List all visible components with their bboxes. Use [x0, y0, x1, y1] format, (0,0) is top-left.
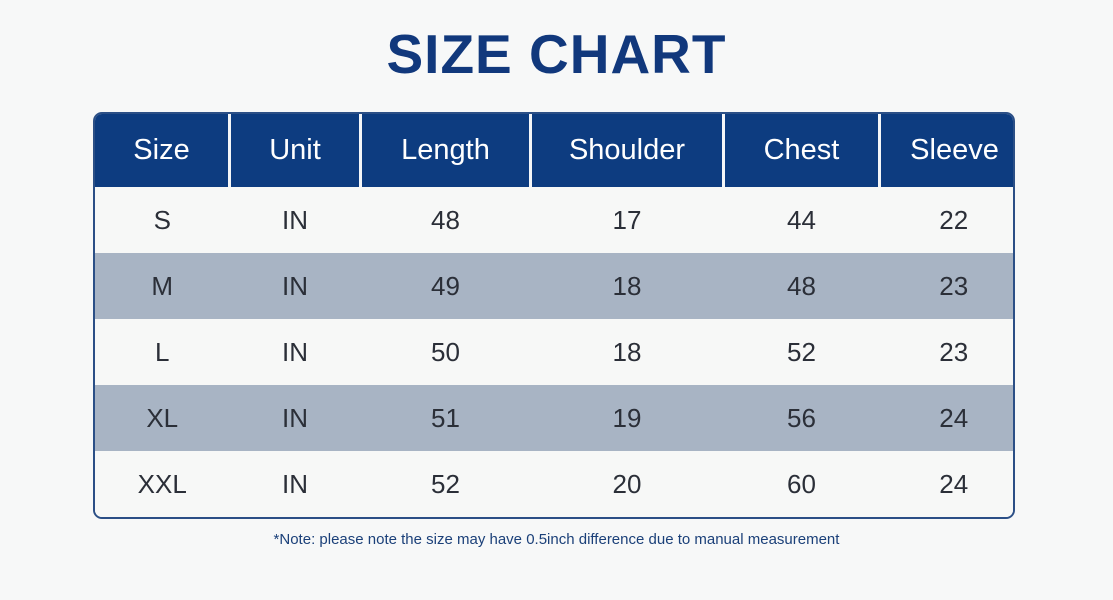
cell-sleeve: 23: [880, 319, 1016, 385]
cell-unit: IN: [230, 319, 361, 385]
size-table-container: Size Unit Length Shoulder Chest Sleeve S…: [93, 112, 1015, 519]
cell-length: 49: [361, 253, 531, 319]
cell-unit: IN: [230, 451, 361, 517]
cell-chest: 44: [724, 187, 880, 253]
column-header-shoulder: Shoulder: [531, 114, 724, 187]
column-header-unit: Unit: [230, 114, 361, 187]
column-header-chest: Chest: [724, 114, 880, 187]
measurement-note: *Note: please note the size may have 0.5…: [0, 531, 1113, 548]
cell-size: L: [95, 319, 230, 385]
table-row: M IN 49 18 48 23: [95, 253, 1015, 319]
cell-shoulder: 18: [531, 319, 724, 385]
cell-unit: IN: [230, 253, 361, 319]
cell-unit: IN: [230, 187, 361, 253]
cell-sleeve: 24: [880, 385, 1016, 451]
cell-length: 48: [361, 187, 531, 253]
cell-chest: 56: [724, 385, 880, 451]
column-header-sleeve: Sleeve: [880, 114, 1016, 187]
table-header: Size Unit Length Shoulder Chest Sleeve: [95, 114, 1015, 187]
cell-shoulder: 17: [531, 187, 724, 253]
column-header-size: Size: [95, 114, 230, 187]
cell-unit: IN: [230, 385, 361, 451]
cell-size: XXL: [95, 451, 230, 517]
cell-shoulder: 19: [531, 385, 724, 451]
cell-chest: 60: [724, 451, 880, 517]
table-row: L IN 50 18 52 23: [95, 319, 1015, 385]
table-row: XXL IN 52 20 60 24: [95, 451, 1015, 517]
cell-size: XL: [95, 385, 230, 451]
cell-chest: 48: [724, 253, 880, 319]
size-table: Size Unit Length Shoulder Chest Sleeve S…: [95, 114, 1015, 517]
cell-shoulder: 20: [531, 451, 724, 517]
cell-sleeve: 22: [880, 187, 1016, 253]
cell-sleeve: 23: [880, 253, 1016, 319]
table-row: XL IN 51 19 56 24: [95, 385, 1015, 451]
cell-length: 50: [361, 319, 531, 385]
cell-length: 51: [361, 385, 531, 451]
column-header-length: Length: [361, 114, 531, 187]
table-body: S IN 48 17 44 22 M IN 49 18 48 23 L: [95, 187, 1015, 517]
cell-length: 52: [361, 451, 531, 517]
cell-size: S: [95, 187, 230, 253]
cell-sleeve: 24: [880, 451, 1016, 517]
table-row: S IN 48 17 44 22: [95, 187, 1015, 253]
size-chart-page: SIZE CHART Size Unit Length Shoulder Che…: [0, 0, 1113, 600]
cell-shoulder: 18: [531, 253, 724, 319]
page-title: SIZE CHART: [0, 23, 1113, 85]
cell-chest: 52: [724, 319, 880, 385]
cell-size: M: [95, 253, 230, 319]
table-header-row: Size Unit Length Shoulder Chest Sleeve: [95, 114, 1015, 187]
